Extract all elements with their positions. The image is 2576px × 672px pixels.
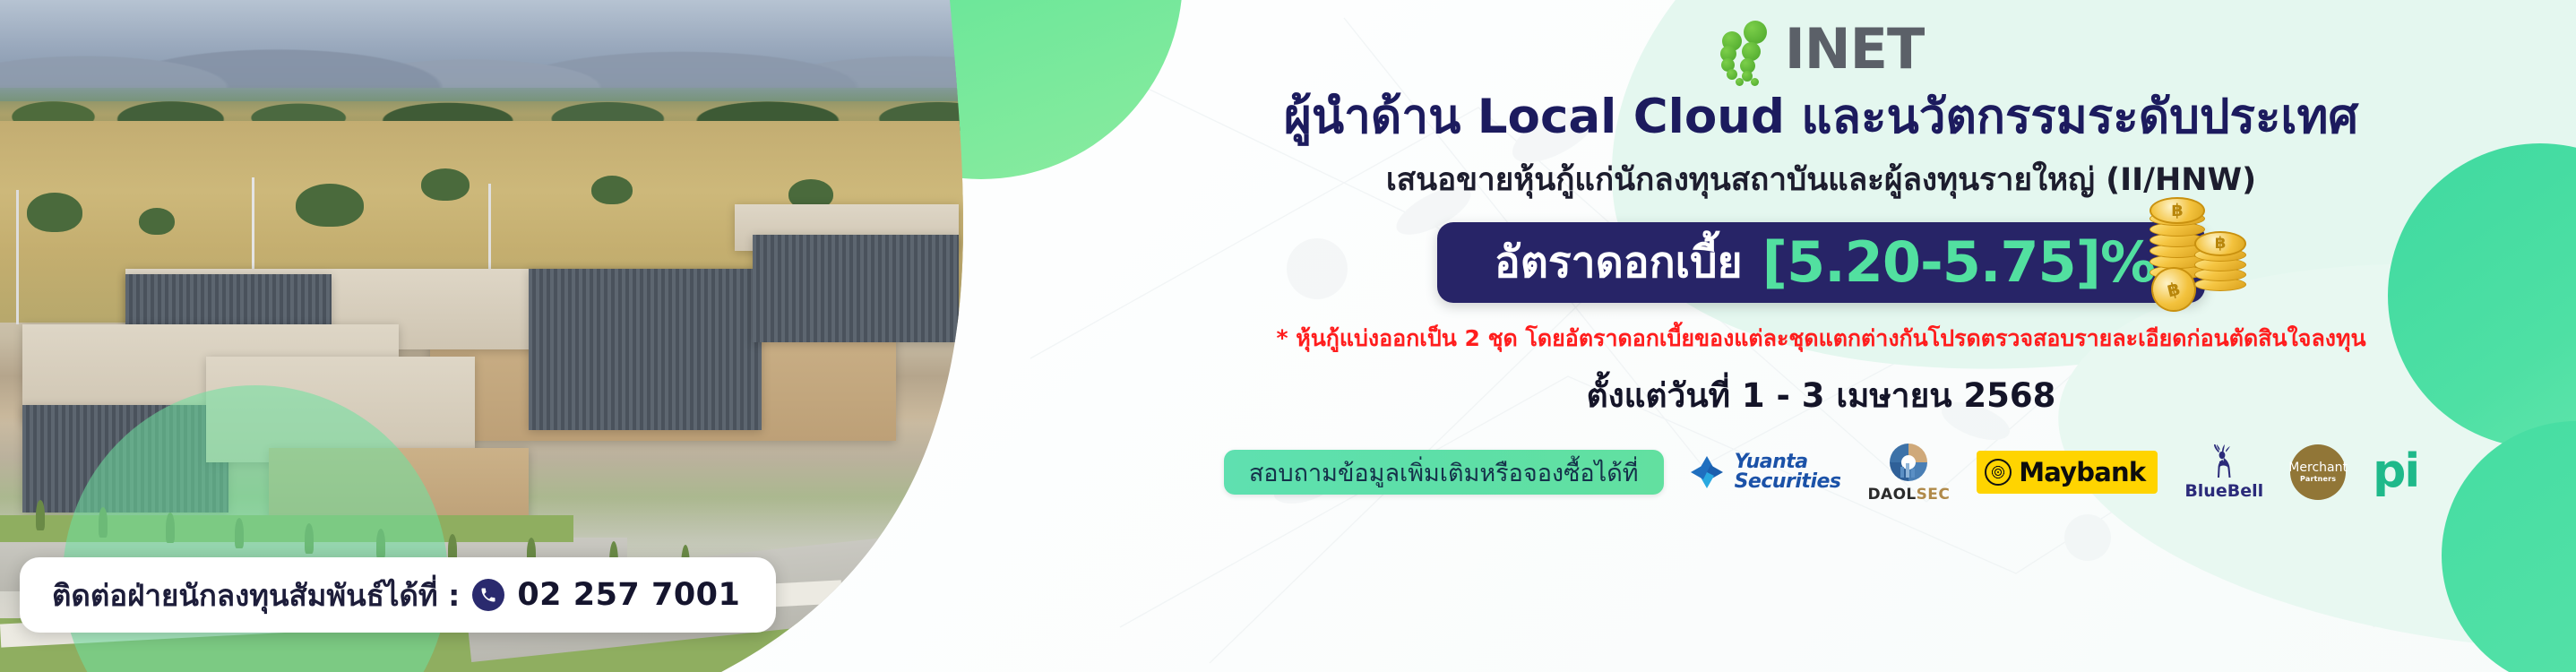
promo-content-column: INET ผู้นำด้าน Local Cloud และนวัตกรรมระ… bbox=[1066, 0, 2576, 672]
maybank-wordmark: Maybank bbox=[2019, 457, 2145, 487]
daol-name: DAOL bbox=[1868, 486, 1917, 504]
yuanta-wordmark: Yuanta Securities bbox=[1735, 452, 1841, 492]
bluebell-deer-icon bbox=[2207, 444, 2241, 479]
offering-date-range: ตั้งแต่วันที่ 1 - 3 เมษายน 2568 bbox=[1587, 369, 2056, 422]
daol-wordmark: DAOLSEC bbox=[1868, 486, 1951, 504]
bond-footnote: * หุ้นกู้แบ่งออกเป็น 2 ชุด โดยอัตราดอกเบ… bbox=[1276, 321, 2365, 357]
interest-rate-value: [5.20-5.75]% bbox=[1762, 229, 2155, 295]
daol-suffix: SEC bbox=[1917, 486, 1951, 504]
yuanta-line1: Yuanta bbox=[1735, 452, 1841, 472]
partner-logo-pi[interactable]: pi bbox=[2373, 453, 2418, 491]
cta-and-partners-row: สอบถามข้อมูลเพิ่มเติมหรือจองซื้อได้ที่ bbox=[1224, 442, 2418, 504]
merchant-line2: Partners bbox=[2300, 475, 2336, 483]
phone-icon bbox=[472, 579, 504, 611]
pi-wordmark-icon: pi bbox=[2373, 453, 2418, 491]
merchant-line1: Merchant bbox=[2288, 461, 2348, 475]
bitcoin-coins-icon: ฿ ฿ ฿ bbox=[2144, 194, 2270, 312]
inet-logo: INET bbox=[1719, 14, 1925, 84]
inquire-or-subscribe-button[interactable]: สอบถามข้อมูลเพิ่มเติมหรือจองซื้อได้ที่ bbox=[1224, 450, 1664, 495]
bluebell-wordmark: BlueBell bbox=[2184, 481, 2263, 501]
photo-edge-fade bbox=[914, 0, 1066, 672]
page-subtitle: เสนอขายหุ้นกู้แก่นักลงทุนสถาบันและผู้ลงท… bbox=[1386, 155, 2256, 204]
photo-mountains bbox=[0, 7, 1066, 88]
yuanta-star-icon bbox=[1687, 452, 1727, 492]
maybank-tiger-icon bbox=[1985, 459, 2012, 486]
partner-logo-maybank[interactable]: Maybank bbox=[1977, 451, 2158, 494]
interest-rate-banner: อัตราดอกเบี้ย [5.20-5.75]% ฿ bbox=[1437, 222, 2205, 303]
yuanta-line2: Securities bbox=[1735, 472, 1841, 492]
partner-logo-daolsec[interactable]: DAOLSEC bbox=[1868, 442, 1951, 504]
inet-bond-offering-banner: ติดต่อฝ่ายนักลงทุนสัมพันธ์ได้ที่ : 02 25… bbox=[0, 0, 2576, 672]
contact-label: ติดต่อฝ่ายนักลงทุนสัมพันธ์ได้ที่ : bbox=[52, 572, 460, 619]
partner-logo-yuanta[interactable]: Yuanta Securities bbox=[1687, 452, 1841, 492]
partner-logos: Yuanta Securities bbox=[1687, 442, 2419, 504]
interest-rate-label: อัตราดอกเบี้ย bbox=[1495, 228, 1743, 297]
daol-circle-icon bbox=[1888, 442, 1929, 483]
merchant-circle-icon: Merchant Partners bbox=[2290, 444, 2346, 500]
partner-logo-bluebell[interactable]: BlueBell bbox=[2184, 444, 2263, 501]
inet-logo-text: INET bbox=[1785, 22, 1925, 77]
investor-relations-contact-box[interactable]: ติดต่อฝ่ายนักลงทุนสัมพันธ์ได้ที่ : 02 25… bbox=[20, 557, 776, 633]
partner-logo-merchant-partners[interactable]: Merchant Partners bbox=[2290, 444, 2346, 500]
page-title: ผู้นำด้าน Local Cloud และนวัตกรรมระดับปร… bbox=[1284, 90, 2358, 146]
contact-phone-number: 02 257 7001 bbox=[517, 577, 740, 613]
inet-dots-logo-icon bbox=[1719, 15, 1779, 83]
